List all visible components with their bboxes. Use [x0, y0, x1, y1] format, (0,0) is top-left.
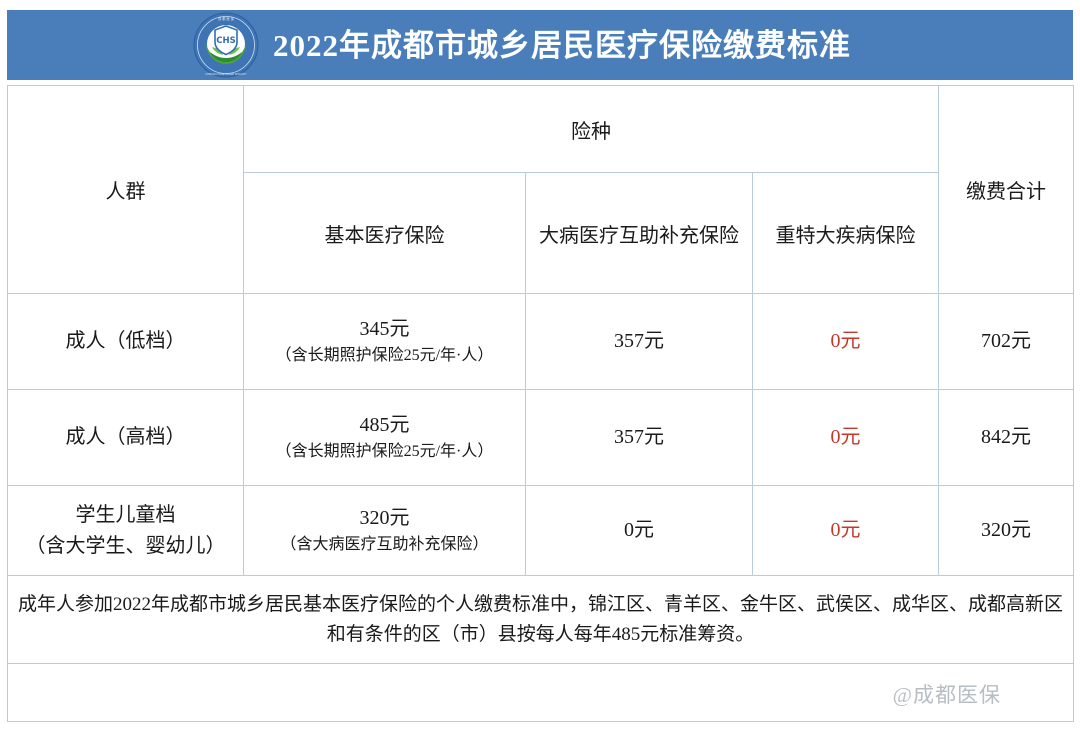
premium-standard-table-wrapper: 人群 险种 缴费合计 基本医疗保险 大病医疗互助补充保险 重特大疾病保险 成人（…	[7, 85, 1073, 722]
cell-total-amount: 702元	[939, 294, 1074, 390]
blank-cell: @成都医保	[8, 664, 1074, 722]
table-row: 学生儿童档 （含大学生、婴幼儿） 320元 （含大病医疗互助补充保险） 0元 0…	[8, 486, 1074, 576]
people-label: 成人（低档）	[12, 328, 239, 355]
cell-people-group: 成人（高档）	[8, 390, 244, 486]
basic-amount-note: （含长期照护保险25元/年·人）	[248, 345, 521, 367]
chengdu-healthcare-security-emblem-icon: 成 都 医 保 CHENGDU HEALTHCARE SECURITY	[193, 12, 259, 78]
cell-critical-illness-amount: 0元	[753, 486, 939, 576]
people-label: 成人（高档）	[12, 424, 239, 451]
basic-amount-note: （含大病医疗互助补充保险）	[248, 534, 521, 556]
basic-amount: 320元	[248, 505, 521, 532]
basic-amount-note: （含长期照护保险25元/年·人）	[248, 441, 521, 463]
cell-total-amount: 842元	[939, 390, 1074, 486]
cell-total-amount: 320元	[939, 486, 1074, 576]
cell-critical-illness-amount: 0元	[753, 390, 939, 486]
header-people: 人群	[8, 86, 244, 294]
header-major-illness-supplementary-insurance: 大病医疗互助补充保险	[526, 173, 753, 294]
table-blank-row: @成都医保	[8, 664, 1074, 722]
svg-text:成 都 医 保: 成 都 医 保	[218, 16, 235, 21]
page-root: 成 都 医 保 CHENGDU HEALTHCARE SECURITY	[0, 0, 1080, 732]
cell-basic-insurance: 320元 （含大病医疗互助补充保险）	[244, 486, 526, 576]
cell-major-illness-amount: 357元	[526, 294, 753, 390]
cell-critical-illness-amount: 0元	[753, 294, 939, 390]
header-banner: 成 都 医 保 CHENGDU HEALTHCARE SECURITY	[7, 10, 1073, 80]
header-basic-medical-insurance: 基本医疗保险	[244, 173, 526, 294]
cell-major-illness-amount: 0元	[526, 486, 753, 576]
table-row: 成人（高档） 485元 （含长期照护保险25元/年·人） 357元 0元 842…	[8, 390, 1074, 486]
people-label-sub: （含大学生、婴幼儿）	[12, 533, 239, 560]
header-critical-illness-insurance: 重特大疾病保险	[753, 173, 939, 294]
cell-basic-insurance: 345元 （含长期照护保险25元/年·人）	[244, 294, 526, 390]
table-header-row-1: 人群 险种 缴费合计	[8, 86, 1074, 173]
basic-amount: 345元	[248, 316, 521, 343]
table-footnote-row: 成年人参加2022年成都市城乡居民基本医疗保险的个人缴费标准中，锦江区、青羊区、…	[8, 576, 1074, 664]
premium-standard-table: 人群 险种 缴费合计 基本医疗保险 大病医疗互助补充保险 重特大疾病保险 成人（…	[7, 85, 1074, 722]
svg-text:CHENGDU HEALTHCARE SECURITY: CHENGDU HEALTHCARE SECURITY	[205, 73, 247, 76]
table-row: 成人（低档） 345元 （含长期照护保险25元/年·人） 357元 0元 702…	[8, 294, 1074, 390]
header-inner: 成 都 医 保 CHENGDU HEALTHCARE SECURITY	[193, 12, 851, 78]
basic-amount: 485元	[248, 412, 521, 439]
people-label: 学生儿童档	[12, 502, 239, 529]
svg-text:CHS: CHS	[216, 36, 235, 46]
page-title: 2022年成都市城乡居民医疗保险缴费标准	[273, 30, 851, 61]
footnote-text: 成年人参加2022年成都市城乡居民基本医疗保险的个人缴费标准中，锦江区、青羊区、…	[8, 576, 1074, 664]
cell-major-illness-amount: 357元	[526, 390, 753, 486]
header-insurance-group: 险种	[244, 86, 939, 173]
cell-people-group: 学生儿童档 （含大学生、婴幼儿）	[8, 486, 244, 576]
header-total-payment: 缴费合计	[939, 86, 1074, 294]
cell-basic-insurance: 485元 （含长期照护保险25元/年·人）	[244, 390, 526, 486]
cell-people-group: 成人（低档）	[8, 294, 244, 390]
watermark-label: @成都医保	[893, 679, 1001, 709]
